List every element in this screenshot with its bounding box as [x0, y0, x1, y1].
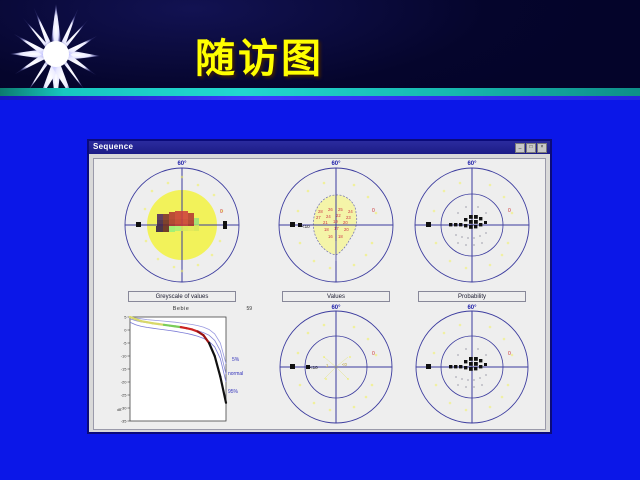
bebie-corner-value: 59 — [246, 306, 252, 312]
svg-text:24: 24 — [348, 209, 353, 214]
nasal-label-values-2: 0 — [372, 351, 375, 357]
window-title: Sequence — [93, 142, 133, 151]
plot-grid: 60° — [94, 159, 545, 429]
bebie-title: Bebie — [173, 306, 190, 312]
svg-text:0: 0 — [124, 328, 127, 333]
panel-caption-greyscale: Greyscale of values — [128, 291, 236, 302]
nasal-label-probability: 0 — [508, 208, 511, 214]
starburst-icon — [8, 2, 112, 100]
svg-text:-10: -10 — [121, 354, 128, 359]
panel-caption-probability: Probability — [418, 291, 526, 302]
svg-text:21: 21 — [323, 220, 328, 225]
svg-text:16: 16 — [328, 234, 333, 239]
svg-text:22: 22 — [336, 213, 341, 218]
svg-text:17: 17 — [334, 226, 339, 231]
svg-text:19: 19 — [333, 219, 338, 224]
teal-divider — [0, 88, 640, 96]
sequence-window: Sequence _ □ × 60° — [87, 139, 552, 434]
panel-greyscale[interactable]: 60° — [112, 161, 252, 301]
bebie-chart[interactable]: 50-5-10-15-20-25-30-35dB Bebie 59 5% nor… — [108, 305, 254, 429]
nasal-label-values: 0 — [372, 208, 375, 214]
svg-text:18: 18 — [338, 234, 343, 239]
panel-top-label-greyscale: 60° — [177, 161, 186, 167]
window-client-area: 60° — [93, 158, 546, 430]
svg-text:-5: -5 — [123, 341, 127, 346]
svg-text:-25: -25 — [121, 393, 128, 398]
window-controls: _ □ × — [515, 143, 547, 153]
blue-divider — [0, 96, 640, 100]
svg-text:<0: <0 — [342, 362, 347, 367]
slide-header-band: 随访图 — [0, 0, 640, 100]
svg-text:dB: dB — [117, 408, 122, 412]
svg-text:26: 26 — [328, 207, 333, 212]
svg-text:27: 27 — [316, 215, 321, 220]
polar-plot-values-2: <10 1<0 — [266, 305, 406, 429]
panel-values-2[interactable]: 60° <10 1<0 — [266, 305, 406, 433]
panel-top-label-probability-2: 60° — [467, 305, 476, 311]
svg-text:5: 5 — [124, 315, 127, 320]
svg-text:24: 24 — [326, 214, 331, 219]
svg-text:-35: -35 — [121, 419, 128, 424]
svg-text:-15: -15 — [121, 367, 128, 372]
minimize-button[interactable]: _ — [515, 143, 525, 153]
panel-top-label-values: 60° — [331, 161, 340, 167]
page-title: 随访图 — [195, 26, 324, 84]
bebie-plot-area: 50-5-10-15-20-25-30-35dB — [108, 305, 254, 429]
maximize-button[interactable]: □ — [526, 143, 536, 153]
svg-text:18: 18 — [324, 227, 329, 232]
window-title-bar[interactable]: Sequence _ □ × — [89, 141, 550, 154]
svg-text:<10: <10 — [310, 365, 318, 370]
legend-item-5pct: 5% — [232, 357, 239, 363]
polar-plot-probability-2 — [402, 305, 542, 429]
polar-plot-probability — [402, 161, 542, 289]
nasal-label-greyscale: 0 — [220, 209, 223, 215]
panel-top-label-probability: 60° — [467, 161, 476, 167]
panel-probability[interactable]: 60° — [402, 161, 542, 301]
panel-top-label-values-2: 60° — [331, 305, 340, 311]
nasal-label-probability-2: 0 — [508, 351, 511, 357]
legend-item-95pct: 95% — [228, 389, 238, 395]
close-button[interactable]: × — [537, 143, 547, 153]
polar-plot-greyscale — [112, 161, 252, 289]
svg-text:-30: -30 — [121, 406, 128, 411]
panel-caption-values: Values — [282, 291, 390, 302]
svg-text:20: 20 — [343, 220, 348, 225]
panel-values[interactable]: 60° 2826 2524 2724 2223 2119 20 1817 20 — [266, 161, 406, 301]
svg-text:28: 28 — [318, 209, 323, 214]
svg-text:<10: <10 — [302, 224, 310, 229]
polar-plot-values: 2826 2524 2724 2223 2119 20 1817 20 1618… — [266, 161, 406, 289]
legend-item-normal: normal — [228, 371, 243, 377]
svg-text:-20: -20 — [121, 380, 128, 385]
panel-probability-2[interactable]: 60° — [402, 305, 542, 433]
svg-text:25: 25 — [338, 207, 343, 212]
svg-text:20: 20 — [344, 227, 349, 232]
